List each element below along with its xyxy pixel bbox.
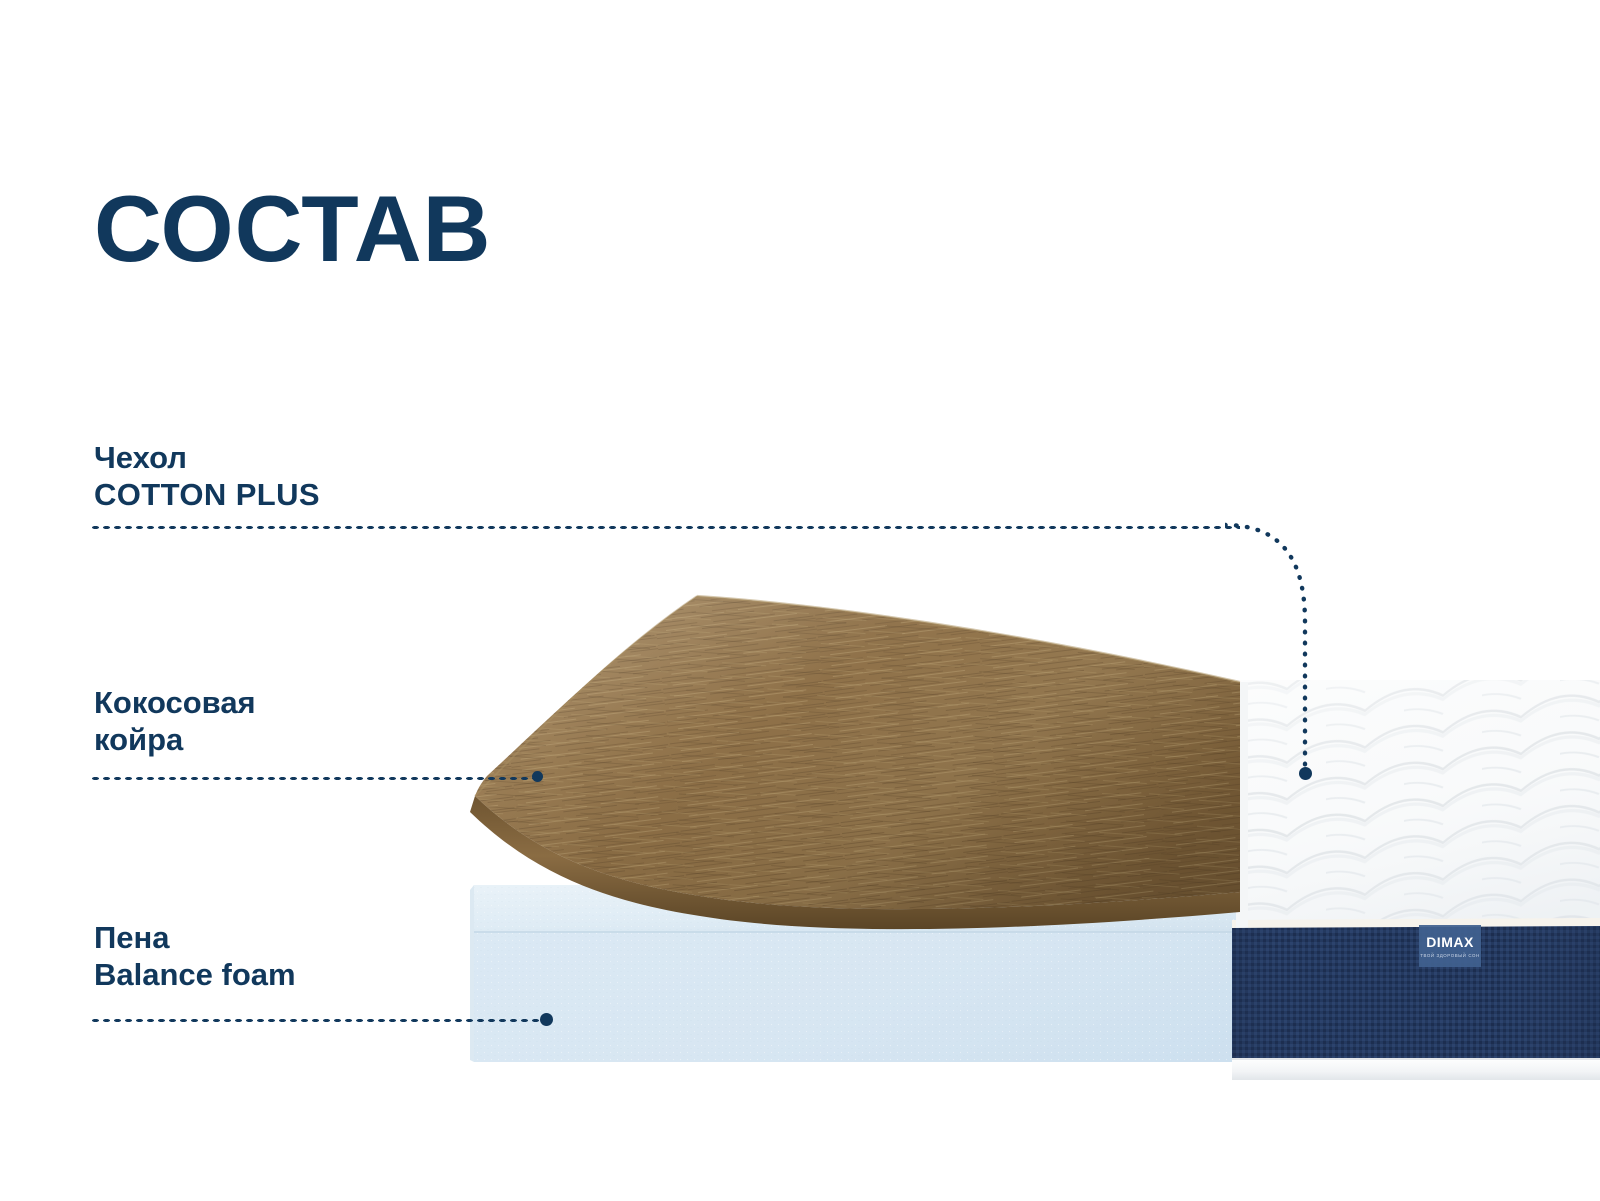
side-band: DIMAX ТВОЙ ЗДОРОВЫЙ СОН [1200,920,1600,1080]
leader-line-foam [90,1018,545,1023]
callout-label-foam: Пена Balance foam [94,920,296,993]
leader-endpoint-cover [1299,767,1312,780]
callout-foam-line2: Balance foam [94,957,296,994]
coconut-coir-sheet [440,570,1270,940]
leader-curve-cover [1225,512,1335,792]
callout-foam-line1: Пена [94,920,296,957]
leader-line-cover [90,525,1240,530]
callout-coir-line2: койра [94,722,256,759]
leader-endpoint-foam [540,1013,553,1026]
callout-cover-line1: Чехол [94,440,320,477]
leader-endpoint-coir [532,771,543,782]
mattress-illustration: DIMAX ТВОЙ ЗДОРОВЫЙ СОН [0,540,1600,1140]
callout-label-coir: Кокосовая койра [94,685,256,758]
brand-tag: DIMAX ТВОЙ ЗДОРОВЫЙ СОН [1419,925,1481,967]
callout-label-cover: Чехол COTTON PLUS [94,440,320,513]
svg-text:ТВОЙ ЗДОРОВЫЙ СОН: ТВОЙ ЗДОРОВЫЙ СОН [1420,953,1480,958]
composition-slide: СОСТАВ [0,0,1600,1201]
leader-line-coir [90,776,538,781]
callout-cover-line2: COTTON PLUS [94,477,320,514]
callout-coir-line1: Кокосовая [94,685,256,722]
svg-text:DIMAX: DIMAX [1426,934,1474,950]
page-title: СОСТАВ [94,182,491,276]
